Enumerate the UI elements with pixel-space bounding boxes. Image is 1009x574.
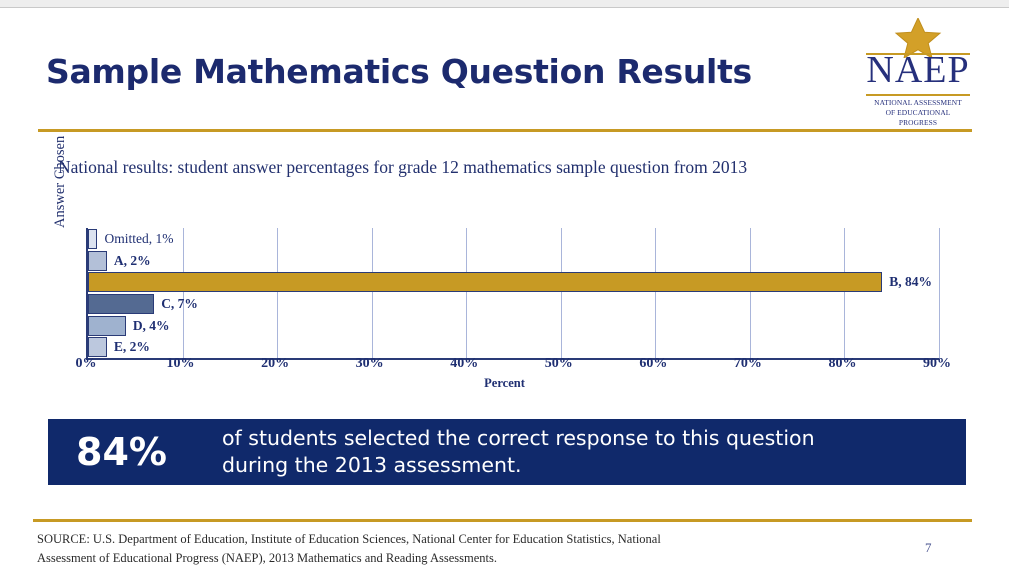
x-tick-20: 20% — [261, 356, 289, 372]
source-note: SOURCE: U.S. Department of Education, In… — [37, 530, 737, 569]
x-axis-title: Percent — [0, 376, 1009, 391]
highlight-callout: 84% of students selected the correct res… — [48, 419, 966, 485]
gridline — [939, 228, 940, 358]
gridline — [183, 228, 184, 358]
logo-subtitle-line-1: NATIONAL ASSESSMENT — [862, 98, 974, 108]
x-tick-80: 80% — [828, 356, 856, 372]
x-tick-40: 40% — [450, 356, 478, 372]
source-note-line-2: Assessment of Educational Progress (NAEP… — [37, 549, 737, 568]
x-tick-10: 10% — [167, 356, 195, 372]
callout-text-line-1: of students selected the correct respons… — [222, 425, 815, 452]
logo-rule-bottom — [866, 94, 970, 96]
bar-label-e: E, 2% — [114, 338, 150, 356]
bar-c — [88, 294, 154, 314]
logo-wordmark: NAEP — [862, 51, 974, 89]
page-title: Sample Mathematics Question Results — [46, 52, 752, 91]
title-divider — [38, 129, 972, 132]
bar-e — [88, 337, 107, 357]
bar-d — [88, 316, 126, 336]
bar-a — [88, 251, 107, 271]
gridline — [277, 228, 278, 358]
bar-label-a: A, 2% — [114, 252, 151, 270]
bar-label-b: B, 84% — [889, 273, 932, 291]
callout-text-line-2: during the 2013 assessment. — [222, 452, 815, 479]
gridline — [466, 228, 467, 358]
page-number: 7 — [925, 540, 932, 556]
x-tick-0: 0% — [76, 356, 97, 372]
gridline — [561, 228, 562, 358]
logo-subtitle: NATIONAL ASSESSMENT OF EDUCATIONAL PROGR… — [862, 98, 974, 128]
x-tick-60: 60% — [639, 356, 667, 372]
slide-canvas: Sample Mathematics Question Results NAEP… — [0, 0, 1009, 574]
x-tick-30: 30% — [356, 356, 384, 372]
top-gray-strip — [0, 0, 1009, 8]
gridline — [372, 228, 373, 358]
bar-omitted — [88, 229, 97, 249]
naep-logo: NAEP NATIONAL ASSESSMENT OF EDUCATIONAL … — [862, 18, 974, 123]
bar-label-c: C, 7% — [161, 295, 198, 313]
x-tick-70: 70% — [734, 356, 762, 372]
callout-text: of students selected the correct respons… — [222, 425, 815, 478]
bar-b — [88, 272, 882, 292]
gridline — [655, 228, 656, 358]
plot-area: Omitted, 1%A, 2%B, 84%C, 7%D, 4%E, 2% — [86, 228, 939, 360]
x-tick-50: 50% — [545, 356, 573, 372]
x-tick-90: 90% — [923, 356, 951, 372]
y-axis-title: Answer Chosen — [52, 136, 69, 228]
logo-subtitle-line-2: OF EDUCATIONAL — [862, 108, 974, 118]
logo-subtitle-line-3: PROGRESS — [862, 118, 974, 128]
bar-label-omitted: Omitted, 1% — [104, 230, 173, 248]
callout-percent: 84% — [76, 430, 216, 474]
footer-divider — [33, 519, 972, 522]
gridline — [750, 228, 751, 358]
source-note-line-1: SOURCE: U.S. Department of Education, In… — [37, 530, 737, 549]
bar-chart: Omitted, 1%A, 2%B, 84%C, 7%D, 4%E, 2% — [0, 218, 1009, 383]
bar-label-d: D, 4% — [133, 317, 170, 335]
chart-description: National results: student answer percent… — [58, 155, 788, 180]
gridline — [844, 228, 845, 358]
